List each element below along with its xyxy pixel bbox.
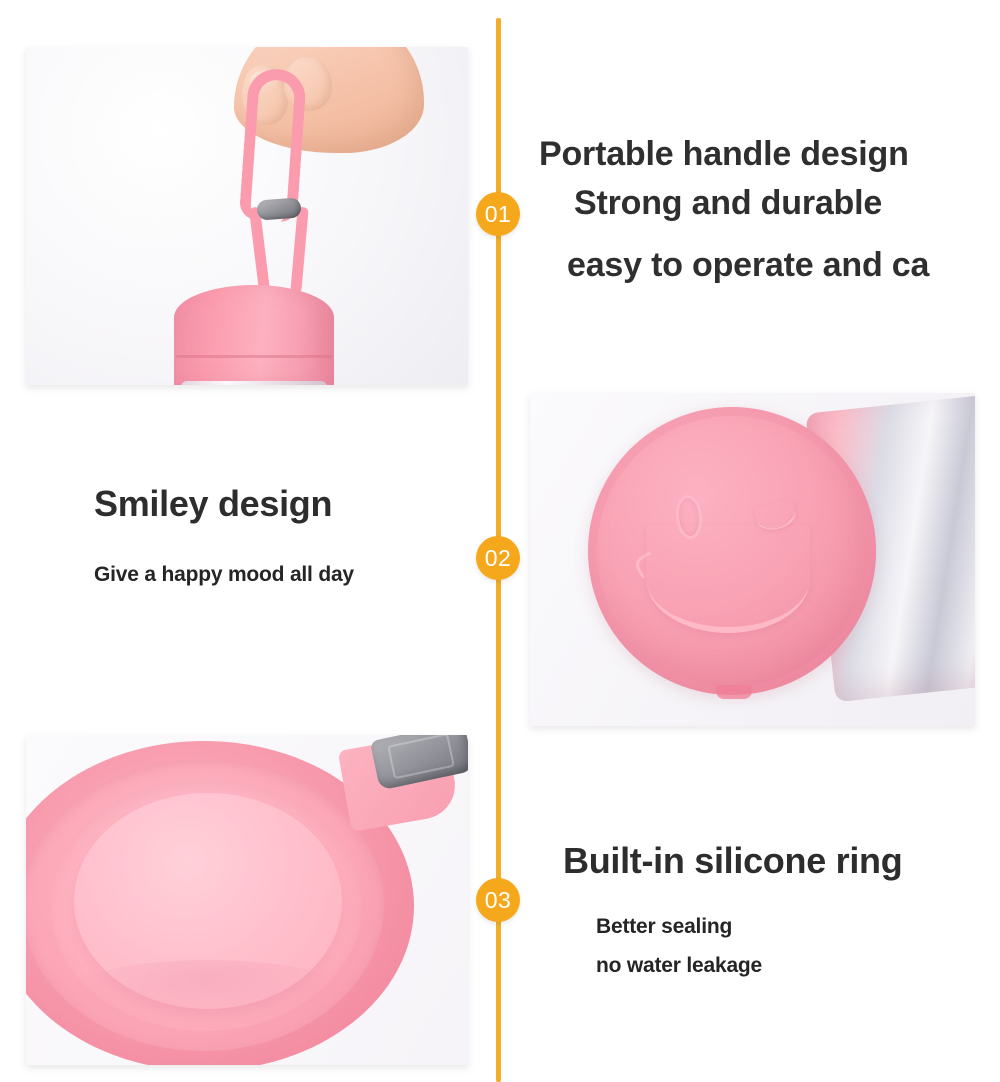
- product-feature-infographic: 01 Portable handle design Strong and dur…: [0, 0, 1000, 1082]
- cap-seam-line: [176, 355, 332, 358]
- lid-notch: [716, 685, 752, 699]
- smiley-photo-content: [530, 393, 975, 726]
- lid-shadow: [66, 960, 351, 1030]
- step-badge-03: 03: [476, 878, 520, 922]
- feature-image-smiley-design: [530, 393, 975, 726]
- step-badge-02: 02: [476, 536, 520, 580]
- step-badge-01-label: 01: [485, 201, 512, 228]
- silicone-ring-photo-content: [26, 735, 468, 1065]
- step-badge-03-label: 03: [485, 887, 512, 914]
- feature-02-subline: Give a happy mood all day: [94, 563, 474, 587]
- feature-01-headline-line3: easy to operate and ca: [531, 241, 1000, 290]
- feature-02-headline: Smiley design: [94, 483, 474, 525]
- feature-03-headline: Built-in silicone ring: [563, 840, 983, 882]
- handle-photo-content: [26, 47, 468, 385]
- feature-01-headline-line2: Strong and durable: [531, 179, 1000, 228]
- feature-text-silicone-ring: Built-in silicone ring Better sealing no…: [563, 840, 983, 986]
- strap-tail-right: [290, 207, 308, 294]
- feature-image-portable-handle: [26, 47, 468, 385]
- smiley-mouth: [646, 525, 810, 633]
- step-badge-02-label: 02: [485, 545, 512, 572]
- smiley-face-lid: [588, 407, 876, 695]
- step-badge-01: 01: [476, 192, 520, 236]
- feature-image-silicone-ring: [26, 735, 468, 1065]
- feature-03-subline-line2: no water leakage: [596, 947, 983, 986]
- feature-03-subline-line1: Better sealing: [596, 908, 983, 947]
- feature-text-smiley-design: Smiley design Give a happy mood all day: [94, 483, 474, 587]
- strap-slider-bead: [256, 197, 301, 220]
- bottle-body: [181, 381, 327, 385]
- feature-text-portable-handle: Portable handle design Strong and durabl…: [531, 130, 1000, 290]
- feature-03-subline: Better sealing no water leakage: [596, 908, 983, 986]
- feature-01-headline-line1: Portable handle design: [531, 130, 1000, 179]
- bottle-cap: [174, 285, 334, 385]
